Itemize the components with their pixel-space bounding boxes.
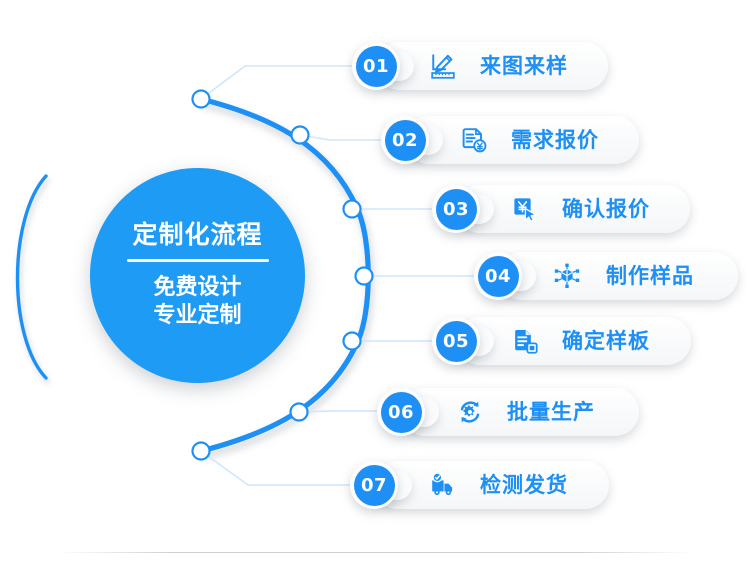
document-stamp-icon (512, 328, 538, 354)
arc-node-4 (356, 268, 373, 285)
step-badge-5[interactable]: 05 (432, 317, 480, 365)
truck-check-delivery-icon (428, 472, 458, 498)
arc-node-2 (292, 127, 309, 144)
step-number-4: 04 (478, 256, 519, 297)
step-label-5: 确定样板 (562, 317, 650, 365)
hub-subtitle-line-1: 免费设计 (153, 274, 241, 302)
step-badge-3[interactable]: 03 (432, 185, 480, 233)
drawing-pencil-ruler-icon (430, 53, 456, 79)
connector-line-1 (201, 66, 360, 99)
step-label-2: 需求报价 (511, 116, 599, 164)
document-yen-quote-icon (461, 127, 487, 153)
connector-line-7 (201, 451, 355, 485)
gear-refresh-production-icon (457, 399, 483, 425)
step-number-5: 05 (436, 321, 477, 362)
step-number-7: 07 (354, 465, 395, 506)
step-item-5[interactable]: 05 确定样板 (432, 317, 691, 365)
cube-nodes-prototype-icon (552, 263, 582, 289)
step-number-6: 06 (381, 392, 422, 433)
step-badge-6[interactable]: 06 (377, 388, 425, 436)
arc-node-1 (193, 91, 210, 108)
step-item-1[interactable]: 01 来图来样 (352, 42, 608, 90)
hub-circle: 定制化流程 免费设计 专业定制 (90, 168, 305, 383)
bottom-divider (55, 552, 695, 553)
arc-node-7 (193, 443, 210, 460)
arc-node-5 (344, 333, 361, 350)
hub-title: 定制化流程 (132, 221, 262, 249)
step-item-7[interactable]: 07 检测发货 (350, 461, 609, 509)
step-number-2: 02 (385, 120, 426, 161)
step-item-3[interactable]: 03 确认报价 (432, 185, 690, 233)
step-number-3: 03 (436, 189, 477, 230)
decorative-left-arc (18, 176, 47, 378)
step-label-3: 确认报价 (562, 185, 650, 233)
step-item-2[interactable]: 02 需求报价 (381, 116, 639, 164)
step-label-1: 来图来样 (480, 42, 568, 90)
hub-subtitle: 免费设计 专业定制 (153, 274, 241, 330)
hub-subtitle-line-2: 专业定制 (153, 302, 241, 330)
step-item-6[interactable]: 06 批量生产 (377, 388, 639, 436)
step-badge-4[interactable]: 04 (474, 252, 522, 300)
step-label-7: 检测发货 (480, 461, 568, 509)
step-item-4[interactable]: 04 制作样品 (474, 252, 738, 300)
arc-node-6 (291, 404, 308, 421)
step-badge-1[interactable]: 01 (352, 42, 400, 90)
step-number-1: 01 (356, 46, 397, 87)
step-badge-2[interactable]: 02 (381, 116, 429, 164)
connector-line-2 (300, 135, 389, 140)
arc-node-3 (344, 201, 361, 218)
connector-line-6 (299, 411, 385, 412)
step-label-6: 批量生产 (507, 388, 595, 436)
infographic-canvas: 定制化流程 免费设计 专业定制 01 来图来样 02 (0, 0, 750, 566)
yen-box-cursor-icon (512, 196, 538, 222)
step-label-4: 制作样品 (606, 252, 694, 300)
step-badge-7[interactable]: 07 (350, 461, 398, 509)
hub-divider (127, 259, 269, 262)
